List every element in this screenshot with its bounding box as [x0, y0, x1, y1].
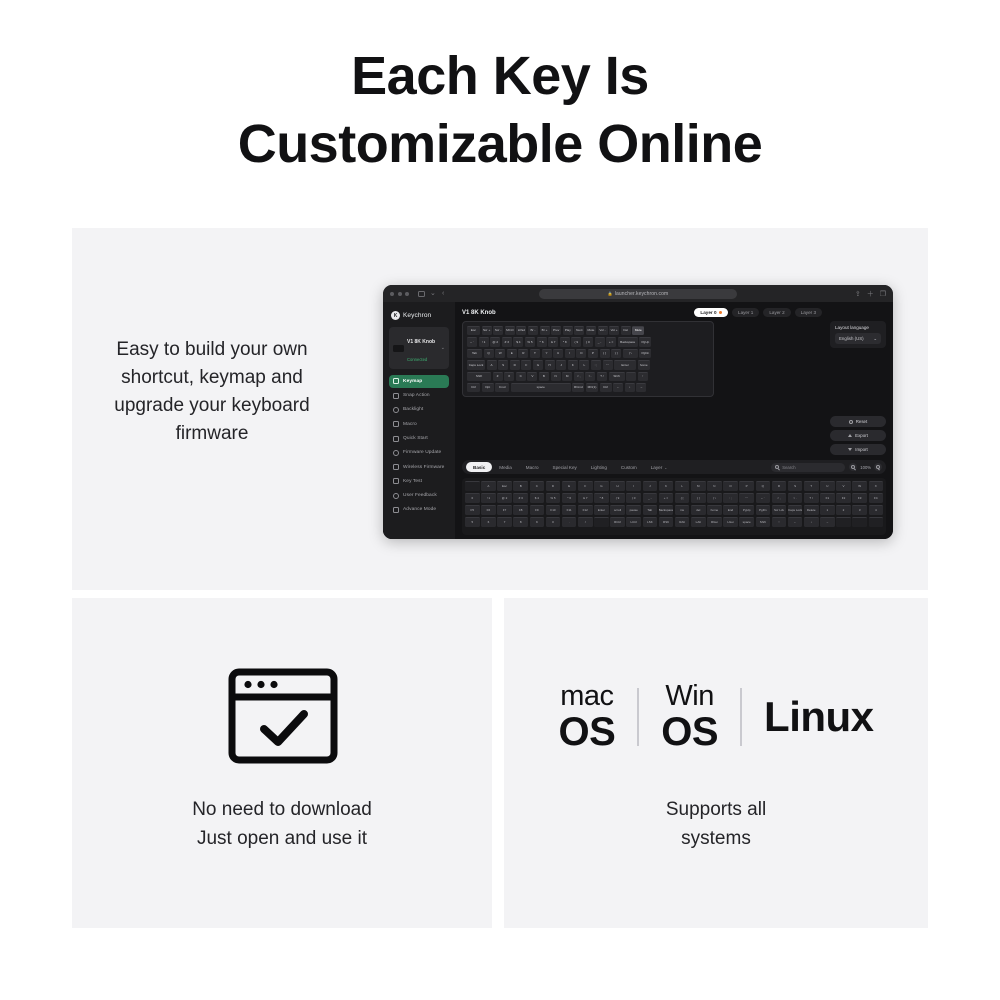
palette-key[interactable]: → [820, 517, 835, 527]
palette-key[interactable]: ) 0 [626, 493, 641, 503]
close-icon[interactable] [390, 292, 394, 296]
keyboard-key[interactable]: PgUp [639, 337, 651, 346]
sidebar-item-label: Advance Mode [403, 507, 436, 512]
palette-key[interactable]: & 7 [578, 493, 593, 503]
palette-key[interactable]: space [739, 517, 754, 527]
snap-action-icon [393, 393, 399, 399]
palette-key[interactable]: H [610, 481, 625, 491]
launcher-main: V1 8K Knob Layer 0Layer 1Layer 2Layer 3 … [455, 302, 893, 539]
keyboard-row: TabQWERTYUIOP{ [} ]| \PgDn [467, 349, 709, 358]
layer-tab-layer-0[interactable]: Layer 0 [694, 308, 728, 317]
launcher-app-screenshot: ⌄ ‹ 🔒 launcher.keychron.com ⇪ ＋ ❐ K Keyc… [383, 285, 893, 539]
keyboard-key[interactable]: ↑ [638, 372, 648, 381]
key-test-icon [393, 478, 399, 484]
url-text: launcher.keychron.com [615, 291, 669, 297]
keyboard-key[interactable]: { [ [600, 349, 610, 358]
keyboard-key[interactable]: Br - [528, 326, 538, 335]
sidebar-item-label: Keymap [403, 379, 422, 384]
keyboard-key[interactable]: % 5 [525, 337, 535, 346]
keyboard-key[interactable]: Scr - [493, 326, 503, 335]
sidebar-item-snap-action[interactable]: Snap Action [389, 389, 449, 402]
os-winos-bottom: OS [661, 712, 718, 752]
palette-key[interactable]: ^ 6 [562, 493, 577, 503]
palette-key[interactable]: # 3 [513, 493, 528, 503]
palette-key[interactable]: Delete [804, 505, 819, 515]
page-title-line1: Each Key Is [351, 46, 649, 106]
keyboard-key[interactable]: " ' [603, 360, 613, 369]
browser-chrome: ⌄ ‹ 🔒 launcher.keychron.com ⇪ ＋ ❐ [383, 285, 893, 302]
keyboard-key[interactable]: ^ 6 [537, 337, 547, 346]
palette-key [852, 517, 867, 527]
keyboard-key[interactable]: O [576, 349, 586, 358]
palette-key[interactable]: F4 [869, 493, 884, 503]
sidebar-item-label: Snap Action [403, 393, 430, 398]
browser-window-check-icon [228, 668, 338, 764]
palette-key[interactable]: 3 [852, 505, 867, 515]
import-icon [848, 448, 852, 451]
palette-key[interactable]: 6 [481, 517, 496, 527]
keyboard-key[interactable]: < , [574, 372, 584, 381]
search-input[interactable]: Search [771, 463, 845, 472]
palette-key[interactable]: M [691, 481, 706, 491]
tab-basic[interactable]: Basic [466, 462, 492, 472]
keyboard-key[interactable]: Play [563, 326, 573, 335]
palette-key[interactable]: F2 [836, 493, 851, 503]
user-feedback-icon [393, 493, 399, 499]
export-button[interactable]: Export [830, 430, 886, 441]
sidebar-item-backlight[interactable]: Backlight [389, 404, 449, 417]
zoom-out-icon[interactable] [849, 463, 857, 471]
chevron-down-icon[interactable]: ⌄ [430, 291, 437, 297]
layer-tab-layer-1[interactable]: Layer 1 [732, 308, 759, 317]
palette-key[interactable]: ( 9 [610, 493, 625, 503]
keyboard-key[interactable]: H [545, 360, 555, 369]
palette-key[interactable]: S [788, 481, 803, 491]
palette-key[interactable]: RAlt [675, 517, 690, 527]
palette-key[interactable]: LCtrl [626, 517, 641, 527]
sidebar-item-quick-start[interactable]: Quick Start [389, 432, 449, 445]
keyboard-key[interactable]: Q [484, 349, 494, 358]
keyboard-row: Caps LockASDFGHJKL: ;" 'Enterhome [467, 360, 709, 369]
sidebar-item-label: Macro [403, 422, 417, 427]
traffic-lights[interactable] [390, 292, 409, 296]
palette-key[interactable]: Scr Lck [772, 505, 787, 515]
reset-button[interactable]: Reset [830, 416, 886, 427]
keyboard-key[interactable]: MCtrl [505, 326, 515, 335]
palette-key[interactable]: 5 [465, 517, 480, 527]
palette-key[interactable]: J [643, 481, 658, 491]
palette-key[interactable]: Enter [594, 505, 609, 515]
search-placeholder: Search [782, 465, 795, 470]
sidebar-item-macro[interactable]: Macro [389, 418, 449, 431]
palette-key[interactable]: Shift [756, 517, 771, 527]
palette-key[interactable]: RCtrl [610, 517, 625, 527]
keyboard-key[interactable]: * 8 [560, 337, 570, 346]
layer-active-dot-icon [719, 311, 722, 314]
palette-key[interactable]: F1 [820, 493, 835, 503]
palette-key[interactable]: N [707, 481, 722, 491]
action-button-label: Reset [856, 419, 867, 424]
sidebar-item-label: Wireless Firmware [403, 465, 444, 470]
palette-key[interactable]: $ 4 [530, 493, 545, 503]
tab-special-key[interactable]: Special Key [546, 462, 584, 472]
os-winos: Win OS [661, 682, 718, 752]
palette-key[interactable]: / [578, 517, 593, 527]
palette-key[interactable]: * 8 [594, 493, 609, 503]
keyboard-key[interactable]: } ] [611, 349, 621, 358]
keyboard-key[interactable]: Shift [467, 372, 491, 381]
page-title: Each Key Is Customizable Online [0, 42, 1000, 178]
palette-key[interactable]: > . [788, 493, 803, 503]
palette-key[interactable]: F11 [562, 505, 577, 515]
chevron-down-icon: ⌄ [873, 336, 877, 342]
export-icon [848, 434, 852, 437]
palette-key[interactable]: . [562, 517, 577, 527]
keyboard-key[interactable]: Backspace [618, 337, 638, 346]
keyboard-key[interactable]: ) 0 [583, 337, 593, 346]
layer-tab-label: Layer 0 [700, 310, 716, 315]
os-linux: Linux [764, 693, 874, 741]
keyboard-key[interactable]: R [518, 349, 528, 358]
palette-key[interactable]: ~ ` [756, 493, 771, 503]
palette-key[interactable]: C [530, 481, 545, 491]
no-download-caption-line2: Just open and use it [92, 824, 472, 853]
sidebar-item-wireless-firmware[interactable]: Wireless Firmware [389, 461, 449, 474]
right-panel: Layout language English (US) ⌄ ResetExpo… [830, 321, 886, 348]
palette-row: 567890./RCtrlLCtrlLSftRSftRAltLAltRGuiLG… [465, 517, 883, 527]
feature-card-launcher-copy: Easy to build your own shortcut, keymap … [96, 336, 328, 448]
palette-row: AEscBCDEFGHIJKLMNOPQRSTUVWX [465, 481, 883, 491]
keyboard-key[interactable]: Opt [482, 383, 494, 392]
tab-custom[interactable]: Custom [614, 462, 644, 472]
feature-card-os-support [504, 598, 928, 928]
layer-tab-label: Layer 1 [738, 310, 753, 315]
palette-key[interactable]: ↓ [804, 517, 819, 527]
tab-media[interactable]: Media [492, 462, 519, 472]
palette-key[interactable]: } ] [691, 493, 706, 503]
keyboard-key[interactable]: D [510, 360, 520, 369]
keyboard-key[interactable]: Tab [467, 349, 482, 358]
palette-key[interactable]: : ; [723, 493, 738, 503]
keyboard-key[interactable]: E [507, 349, 517, 358]
sidebar-item-user-feedback[interactable]: User Feedback [389, 489, 449, 502]
keyboard-key[interactable]: space [511, 383, 571, 392]
palette-key[interactable]: F9 [530, 505, 545, 515]
palette-key[interactable]: F12 [578, 505, 593, 515]
palette-key[interactable]: Tab [643, 505, 658, 515]
keyboard-key[interactable]: Esc [467, 326, 480, 335]
layer-tab-label: Layer 3 [801, 310, 816, 315]
keyboard-key[interactable]: ( 9 [571, 337, 581, 346]
palette-key[interactable]: O [723, 481, 738, 491]
keyboard-key[interactable]: Caps Lock [467, 360, 485, 369]
no-download-caption-line1: No need to download [92, 795, 472, 824]
action-button-label: Export [855, 433, 868, 438]
keyboard-key[interactable]: Br + [540, 326, 550, 335]
keyboard-row: ~ `! 1@ 2# 3$ 4% 5^ 6& 7* 8( 9) 0_ -+ =B… [467, 337, 709, 346]
palette-key[interactable]: R [772, 481, 787, 491]
palette-key[interactable]: E [562, 481, 577, 491]
palette-key[interactable]: U [820, 481, 835, 491]
palette-key[interactable]: F5 [465, 505, 480, 515]
layer-tab-layer-2[interactable]: Layer 2 [763, 308, 790, 317]
keyboard-key[interactable]: L [579, 360, 589, 369]
plus-icon[interactable]: ＋ [867, 289, 874, 299]
page-title-line2: Customizable Online [0, 110, 1000, 178]
palette-key[interactable]: < , [772, 493, 787, 503]
sidebar-item-label: Firmware Update [403, 450, 441, 455]
keyboard-key[interactable]: MO(1) [586, 383, 598, 392]
keyboard-key[interactable]: A [487, 360, 497, 369]
keyboard-key[interactable]: Prev [551, 326, 561, 335]
keyboard-key[interactable]: Del [621, 326, 631, 335]
palette-key[interactable]: ↑ [772, 517, 787, 527]
palette-key[interactable]: I [626, 481, 641, 491]
device-thumbnail-icon [393, 345, 404, 352]
os-logos: mac OS Win OS Linux [504, 678, 928, 756]
tab-lighting[interactable]: Lighting [584, 462, 614, 472]
keyboard-key[interactable]: M [562, 372, 572, 381]
device-status: Connected [407, 357, 427, 362]
sidebar-item-advance-mode[interactable]: Advance Mode [389, 504, 449, 517]
palette-key[interactable]: F7 [497, 505, 512, 515]
palette-key[interactable]: ? / [804, 493, 819, 503]
tab-label: Macro [526, 465, 539, 470]
brand: K Keychron [389, 309, 449, 327]
tab-label: Lighting [591, 465, 607, 470]
palette-key[interactable]: LGui [723, 517, 738, 527]
palette-key[interactable]: L [675, 481, 690, 491]
palette-key[interactable]: V [836, 481, 851, 491]
keyboard-key[interactable]: ← [613, 383, 623, 392]
keyboard-key[interactable]: Y [542, 349, 552, 358]
layer-tab-label: Layer 2 [769, 310, 784, 315]
palette-key[interactable]: Backspace [659, 505, 674, 515]
keyboard-key[interactable]: P [588, 349, 598, 358]
palette-key[interactable]: PgUp [739, 505, 754, 515]
palette-key[interactable]: End [723, 505, 738, 515]
backlight-icon [393, 407, 399, 413]
keyboard-key[interactable]: RCmd [572, 383, 584, 392]
search-icon [775, 465, 779, 469]
keyboard-key[interactable]: : ; [591, 360, 601, 369]
zoom-in-icon[interactable] [874, 463, 882, 471]
palette-key[interactable]: _ - [643, 493, 658, 503]
palette-key[interactable]: 9 [530, 517, 545, 527]
keyboard-key[interactable]: I [565, 349, 575, 358]
palette-key[interactable]: ! 1 [481, 493, 496, 503]
chevron-down-icon: ⌄ [664, 466, 667, 470]
layout-language-select[interactable]: English (US) ⌄ [835, 333, 881, 344]
palette-key[interactable]: PgDn [756, 505, 771, 515]
palette-key[interactable]: 1 [820, 505, 835, 515]
tab-macro[interactable]: Macro [519, 462, 546, 472]
palette-key[interactable]: F10 [546, 505, 561, 515]
tab-label: Media [499, 465, 512, 470]
url-bar[interactable]: 🔒 launcher.keychron.com [539, 289, 737, 299]
palette-key[interactable]: del [691, 505, 706, 515]
keyboard-key[interactable]: Enter [614, 360, 636, 369]
palette-key[interactable]: K [659, 481, 674, 491]
chevron-left-icon[interactable]: ‹ [442, 291, 449, 297]
keyboard-key[interactable]: Ctrl [600, 383, 612, 392]
palette-key[interactable]: + = [659, 493, 674, 503]
palette-key[interactable]: B [513, 481, 528, 491]
action-buttons: ResetExportImport [830, 416, 886, 455]
palette-key[interactable]: 2 [836, 505, 851, 515]
palette-key[interactable]: W [852, 481, 867, 491]
keyboard-key[interactable]: home [638, 360, 650, 369]
key-palette[interactable]: AEscBCDEFGHIJKLMNOPQRSTUVWX0! 1@ 2# 3$ 4… [462, 478, 886, 535]
palette-key[interactable]: T [804, 481, 819, 491]
keyboard-key[interactable]: & 7 [548, 337, 558, 346]
palette-key[interactable]: @ 2 [497, 493, 512, 503]
palette-key[interactable]: A [481, 481, 496, 491]
palette-key[interactable]: F8 [513, 505, 528, 515]
tab-label: Layer [651, 465, 663, 470]
palette-key[interactable]: P [739, 481, 754, 491]
palette-key[interactable]: G [594, 481, 609, 491]
palette-key[interactable]: { [ [675, 493, 690, 503]
palette-key[interactable]: " ' [739, 493, 754, 503]
palette-key[interactable]: RGui [707, 517, 722, 527]
keyboard-key[interactable]: V [527, 372, 537, 381]
macro-icon [393, 421, 399, 427]
keyboard-key[interactable]: J [556, 360, 566, 369]
firmware-update-icon [393, 450, 399, 456]
keyboard-key[interactable]: _ - [595, 337, 605, 346]
keyboard-key[interactable]: Vol + [609, 326, 619, 335]
palette-key[interactable]: F [578, 481, 593, 491]
keyboard-key[interactable]: ? / [597, 372, 607, 381]
palette-key[interactable]: 0 [465, 493, 480, 503]
keyboard-key[interactable]: N [551, 372, 561, 381]
layer-tab-layer-3[interactable]: Layer 3 [795, 308, 822, 317]
palette-key[interactable]: 8 [513, 517, 528, 527]
wireless-firmware-icon [393, 464, 399, 470]
palette-key[interactable]: D [546, 481, 561, 491]
keyboard-layout[interactable]: EscScr +Scr -MCtrlLPadBr -Br +PrevPlayNe… [462, 321, 714, 397]
keyboard-key[interactable]: ! 1 [479, 337, 489, 346]
keyboard-key[interactable]: W [495, 349, 505, 358]
palette-key[interactable]: ins [675, 505, 690, 515]
palette-key[interactable]: 0 [546, 517, 561, 527]
palette-key[interactable]: RSft [659, 517, 674, 527]
palette-key[interactable]: Q [756, 481, 771, 491]
keyboard-key[interactable]: Mute [586, 326, 596, 335]
sidebar-icon[interactable] [418, 291, 425, 297]
keyboard-key[interactable]: Ctrl [467, 383, 480, 392]
import-button[interactable]: Import [830, 444, 886, 455]
keyboard-key[interactable]: > . [585, 372, 595, 381]
palette-key[interactable]: 4 [869, 505, 884, 515]
keyboard-key[interactable]: LPad [516, 326, 526, 335]
launcher-sidebar: K Keychron V1 8K Knob Connected ⌄ Keymap… [383, 302, 455, 539]
palette-key[interactable]: Caps Lock [788, 505, 803, 515]
os-support-caption: Supports all systems [524, 795, 908, 853]
palette-key[interactable]: Esc [497, 481, 512, 491]
palette-key[interactable]: 7 [497, 517, 512, 527]
palette-key[interactable]: ← [788, 517, 803, 527]
brand-name: Keychron [403, 312, 431, 319]
keychron-logo-icon: K [391, 311, 400, 320]
palette-key[interactable]: home [707, 505, 722, 515]
launcher-body: K Keychron V1 8K Knob Connected ⌄ Keymap… [383, 302, 893, 539]
palette-key[interactable]: % 5 [546, 493, 561, 503]
layout-language-label: Layout language [835, 325, 881, 330]
palette-key[interactable]: | \ [707, 493, 722, 503]
keyboard-key[interactable]: ↓ [625, 383, 635, 392]
keyboard-key[interactable]: F [521, 360, 531, 369]
keyboard-key[interactable]: Next [574, 326, 584, 335]
keyboard-key[interactable]: + = [606, 337, 616, 346]
quick-start-icon [393, 436, 399, 442]
keyboard-key[interactable]: T [530, 349, 540, 358]
keyboard-key[interactable]: @ 2 [490, 337, 500, 346]
keyboard-key[interactable]: B [539, 372, 549, 381]
sidebar-item-keymap[interactable]: Keymap [389, 375, 449, 388]
keyboard-key[interactable]: Cmd [495, 383, 509, 392]
device-selector[interactable]: V1 8K Knob Connected ⌄ [389, 327, 449, 369]
palette-key[interactable]: scroll [610, 505, 625, 515]
palette-key[interactable]: F3 [852, 493, 867, 503]
palette-key[interactable]: F6 [481, 505, 496, 515]
palette-key[interactable]: X [869, 481, 884, 491]
sidebar-item-label: Quick Start [403, 436, 428, 441]
keyboard-key[interactable]: Mute [632, 326, 644, 335]
keymap-icon [393, 378, 399, 384]
keyboard-key[interactable]: C [516, 372, 526, 381]
keyboard-key[interactable]: → [636, 383, 646, 392]
keyboard-key[interactable]: ~ ` [467, 337, 477, 346]
keyboard-key[interactable]: Vol - [598, 326, 608, 335]
keyboard-key[interactable]: $ 4 [513, 337, 523, 346]
sidebar-item-key-test[interactable]: Key Test [389, 475, 449, 488]
tabs-icon[interactable]: ❐ [880, 290, 886, 298]
keyboard-key[interactable]: X [504, 372, 514, 381]
keyboard-key[interactable]: # 3 [502, 337, 512, 346]
advance-mode-icon [393, 507, 399, 513]
sidebar-item-firmware-update[interactable]: Firmware Update [389, 446, 449, 459]
zoom-icon[interactable] [405, 292, 409, 296]
keyboard-key[interactable]: S [498, 360, 508, 369]
share-icon[interactable]: ⇪ [855, 290, 861, 298]
keyboard-key[interactable]: K [568, 360, 578, 369]
keyboard-row: CtrlOptCmdspaceRCmdMO(1)Ctrl←↓→ [467, 383, 709, 392]
minimize-icon[interactable] [398, 292, 402, 296]
chevron-down-icon[interactable]: ⌄ [441, 345, 445, 351]
palette-key [836, 517, 851, 527]
keyboard-row: EscScr +Scr -MCtrlLPadBr -Br +PrevPlayNe… [467, 326, 709, 335]
tab-layer[interactable]: Layer⌄ [644, 462, 675, 472]
keyboard-key[interactable]: Shift [609, 372, 625, 381]
keyboard-key[interactable]: | \ [623, 349, 638, 358]
keyboard-key[interactable]: PgDn [639, 349, 651, 358]
palette-row: F5F6F7F8F9F10F11F12EnterscrollpauseTabBa… [465, 505, 883, 515]
os-macos-bottom: OS [558, 712, 615, 752]
sidebar-nav: KeymapSnap ActionBacklightMacroQuick Sta… [389, 375, 449, 516]
palette-key[interactable]: LAlt [691, 517, 706, 527]
divider [637, 688, 639, 746]
palette-key[interactable]: LSft [643, 517, 658, 527]
keyboard-key[interactable]: G [533, 360, 543, 369]
keyboard-key[interactable]: Z [493, 372, 503, 381]
keyboard-key[interactable]: U [553, 349, 563, 358]
keyboard-key[interactable]: Scr + [482, 326, 492, 335]
palette-key[interactable]: pause [626, 505, 641, 515]
sidebar-item-label: User Feedback [403, 493, 437, 498]
os-support-caption-line1: Supports all [524, 795, 908, 824]
